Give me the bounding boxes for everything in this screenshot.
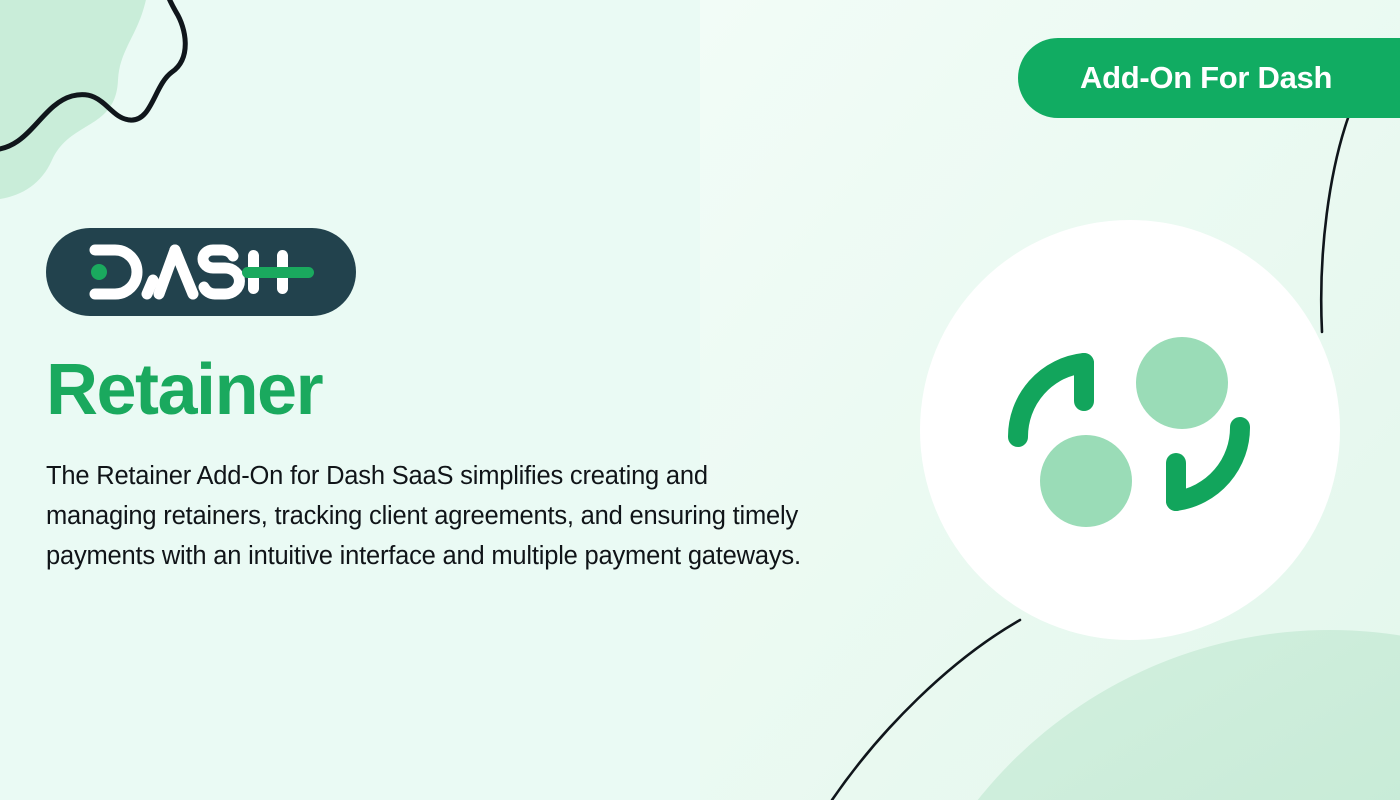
dash-wordmark-icon <box>85 244 317 300</box>
dot-bottom-left <box>1040 435 1132 527</box>
curve-line-bottom-left <box>832 620 1020 800</box>
content-column: Retainer The Retainer Add-On for Dash Sa… <box>46 228 846 576</box>
feature-icon-circle <box>920 220 1340 640</box>
recurring-refresh-icon <box>1000 315 1260 545</box>
blob-shape-top-left <box>0 0 150 200</box>
description-text: The Retainer Add-On for Dash SaaS simpli… <box>46 426 806 576</box>
wavy-line-top-left <box>0 0 185 150</box>
dot-top-right <box>1136 337 1228 429</box>
addon-badge-label: Add-On For Dash <box>1080 60 1332 96</box>
addon-badge: Add-On For Dash <box>1018 38 1400 118</box>
page-title: Retainer <box>46 340 846 426</box>
blob-circle-bottom-right <box>880 630 1400 800</box>
logo-dot-icon <box>91 264 107 280</box>
promo-banner: Add-On For Dash <box>0 0 1400 800</box>
curve-line-right <box>1321 118 1348 332</box>
logo-crossbar-icon <box>242 267 314 278</box>
dash-logo <box>46 228 356 316</box>
